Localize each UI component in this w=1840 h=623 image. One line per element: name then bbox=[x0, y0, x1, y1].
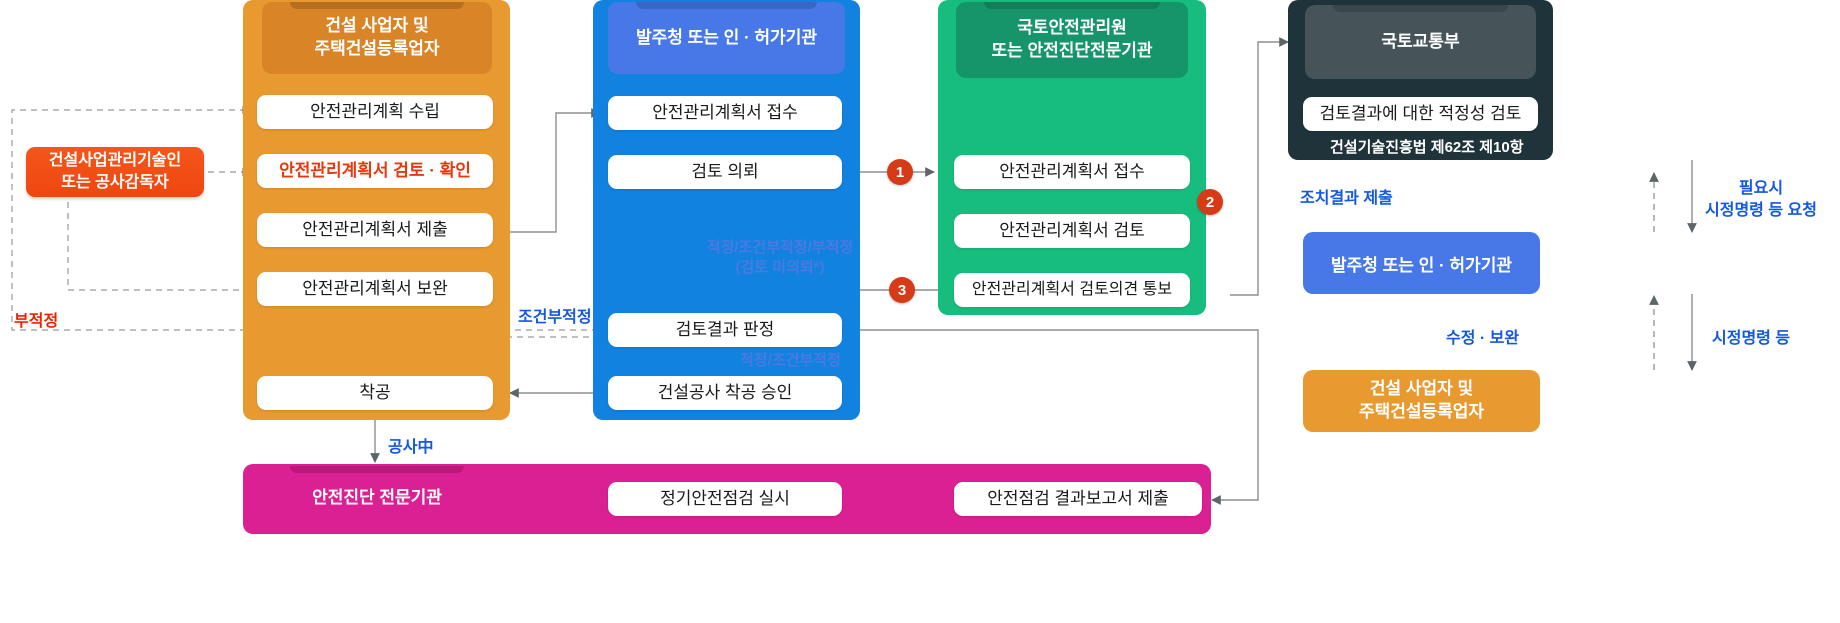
flowchart-canvas: 건설 사업자 및 주택건설등록업자 안전관리계획 수립 안전관리계획서 검토 ·… bbox=[0, 0, 1840, 623]
lane-contractor-header-line1: 건설 사업자 및 bbox=[325, 16, 428, 35]
label-correction-request: 필요시 시정명령 등 요청 bbox=[1705, 178, 1817, 221]
node-review-request[interactable]: 검토 의뢰 bbox=[608, 155, 842, 189]
box-contractor-secondary[interactable]: 건설 사업자 및 주택건설등록업자 bbox=[1303, 370, 1540, 432]
lane-inspection-header-line1: 안전진단 전문기관 bbox=[312, 487, 442, 510]
lane-molit-header: 국토교통부 bbox=[1305, 5, 1536, 79]
lane-contractor-header: 건설 사업자 및 주택건설등록업자 bbox=[262, 2, 492, 74]
node-safety-plan-supplement[interactable]: 안전관리계획서 보완 bbox=[257, 272, 493, 306]
node-inspection-report-submit[interactable]: 안전점검 결과보고서 제출 bbox=[954, 482, 1202, 516]
lane-inspection-header: 안전진단 전문기관 bbox=[262, 466, 492, 530]
node-periodic-inspection[interactable]: 정기안전점검 실시 bbox=[608, 482, 842, 516]
label-result-types-line1: 적정/조건부적정/부적정 bbox=[707, 239, 853, 256]
node-safety-plan-review-confirm[interactable]: 안전관리계획서 검토 · 확인 bbox=[257, 154, 493, 188]
node-review-opinion-notice[interactable]: 안전관리계획서 검토의견 통보 bbox=[954, 273, 1190, 307]
lane-molit-header-line1: 국토교통부 bbox=[1381, 31, 1459, 54]
badge-line1: 건설사업관리기술인 bbox=[49, 152, 181, 169]
label-result-types-line2: (검토 미의뢰*) bbox=[736, 259, 825, 276]
lane-kalis-header: 국토안전관리원 또는 안전진단전문기관 bbox=[956, 2, 1188, 78]
box-contractor-secondary-line1: 건설 사업자 및 bbox=[1370, 379, 1473, 398]
label-result-types-2: 적정/조건부적정 bbox=[740, 351, 841, 371]
box-contractor-secondary-line2: 주택건설등록업자 bbox=[1359, 402, 1484, 421]
label-correction-request-line2: 시정명령 등 요청 bbox=[1705, 202, 1817, 219]
label-revise-supplement: 수정 · 보완 bbox=[1446, 324, 1519, 348]
node-adequacy-review[interactable]: 검토결과에 대한 적정성 검토 bbox=[1303, 97, 1538, 131]
box-owner-secondary[interactable]: 발주청 또는 인 · 허가기관 bbox=[1303, 232, 1540, 294]
step-number-3: 3 bbox=[889, 277, 915, 303]
badge-construction-manager[interactable]: 건설사업관리기술인 또는 공사감독자 bbox=[26, 147, 204, 197]
label-action-result-submit: 조치결과 제출 bbox=[1300, 184, 1393, 208]
node-construction-start[interactable]: 착공 bbox=[257, 376, 493, 410]
lane-contractor-header-line2: 주택건설등록업자 bbox=[314, 39, 439, 58]
node-plan-receipt-owner[interactable]: 안전관리계획서 접수 bbox=[608, 96, 842, 130]
label-under-construction: 공사中 bbox=[388, 433, 433, 457]
step-number-2: 2 bbox=[1197, 189, 1223, 215]
label-correction-order: 시정명령 등 bbox=[1712, 324, 1790, 348]
node-safety-plan-submit[interactable]: 안전관리계획서 제출 bbox=[257, 213, 493, 247]
node-plan-review-kalis[interactable]: 안전관리계획서 검토 bbox=[954, 214, 1190, 248]
lane-kalis-header-line2: 또는 안전진단전문기관 bbox=[991, 41, 1152, 60]
label-unfit: 부적정 bbox=[14, 307, 58, 331]
label-conditional-unfit: 조건부적정 bbox=[518, 303, 592, 327]
label-result-types: 적정/조건부적정/부적정 (검토 미의뢰*) bbox=[700, 238, 860, 277]
badge-line2: 또는 공사감독자 bbox=[61, 174, 169, 191]
node-review-result-decision[interactable]: 검토결과 판정 bbox=[608, 313, 842, 347]
label-correction-request-line1: 필요시 bbox=[1739, 180, 1783, 197]
molit-legal-footnote: 건설기술진흥법 제62조 제10항 bbox=[1330, 136, 1524, 157]
lane-kalis-header-line1: 국토안전관리원 bbox=[1017, 18, 1126, 37]
node-safety-plan-establish[interactable]: 안전관리계획 수립 bbox=[257, 95, 493, 129]
lane-owner-header-line1: 발주청 또는 인 · 허가기관 bbox=[636, 27, 817, 50]
node-construction-start-approval[interactable]: 건설공사 착공 승인 bbox=[608, 376, 842, 410]
lane-owner-header: 발주청 또는 인 · 허가기관 bbox=[608, 2, 845, 74]
box-owner-secondary-label: 발주청 또는 인 · 허가기관 bbox=[1331, 251, 1512, 276]
step-number-1: 1 bbox=[887, 159, 913, 185]
node-plan-receipt-kalis[interactable]: 안전관리계획서 접수 bbox=[954, 155, 1190, 189]
